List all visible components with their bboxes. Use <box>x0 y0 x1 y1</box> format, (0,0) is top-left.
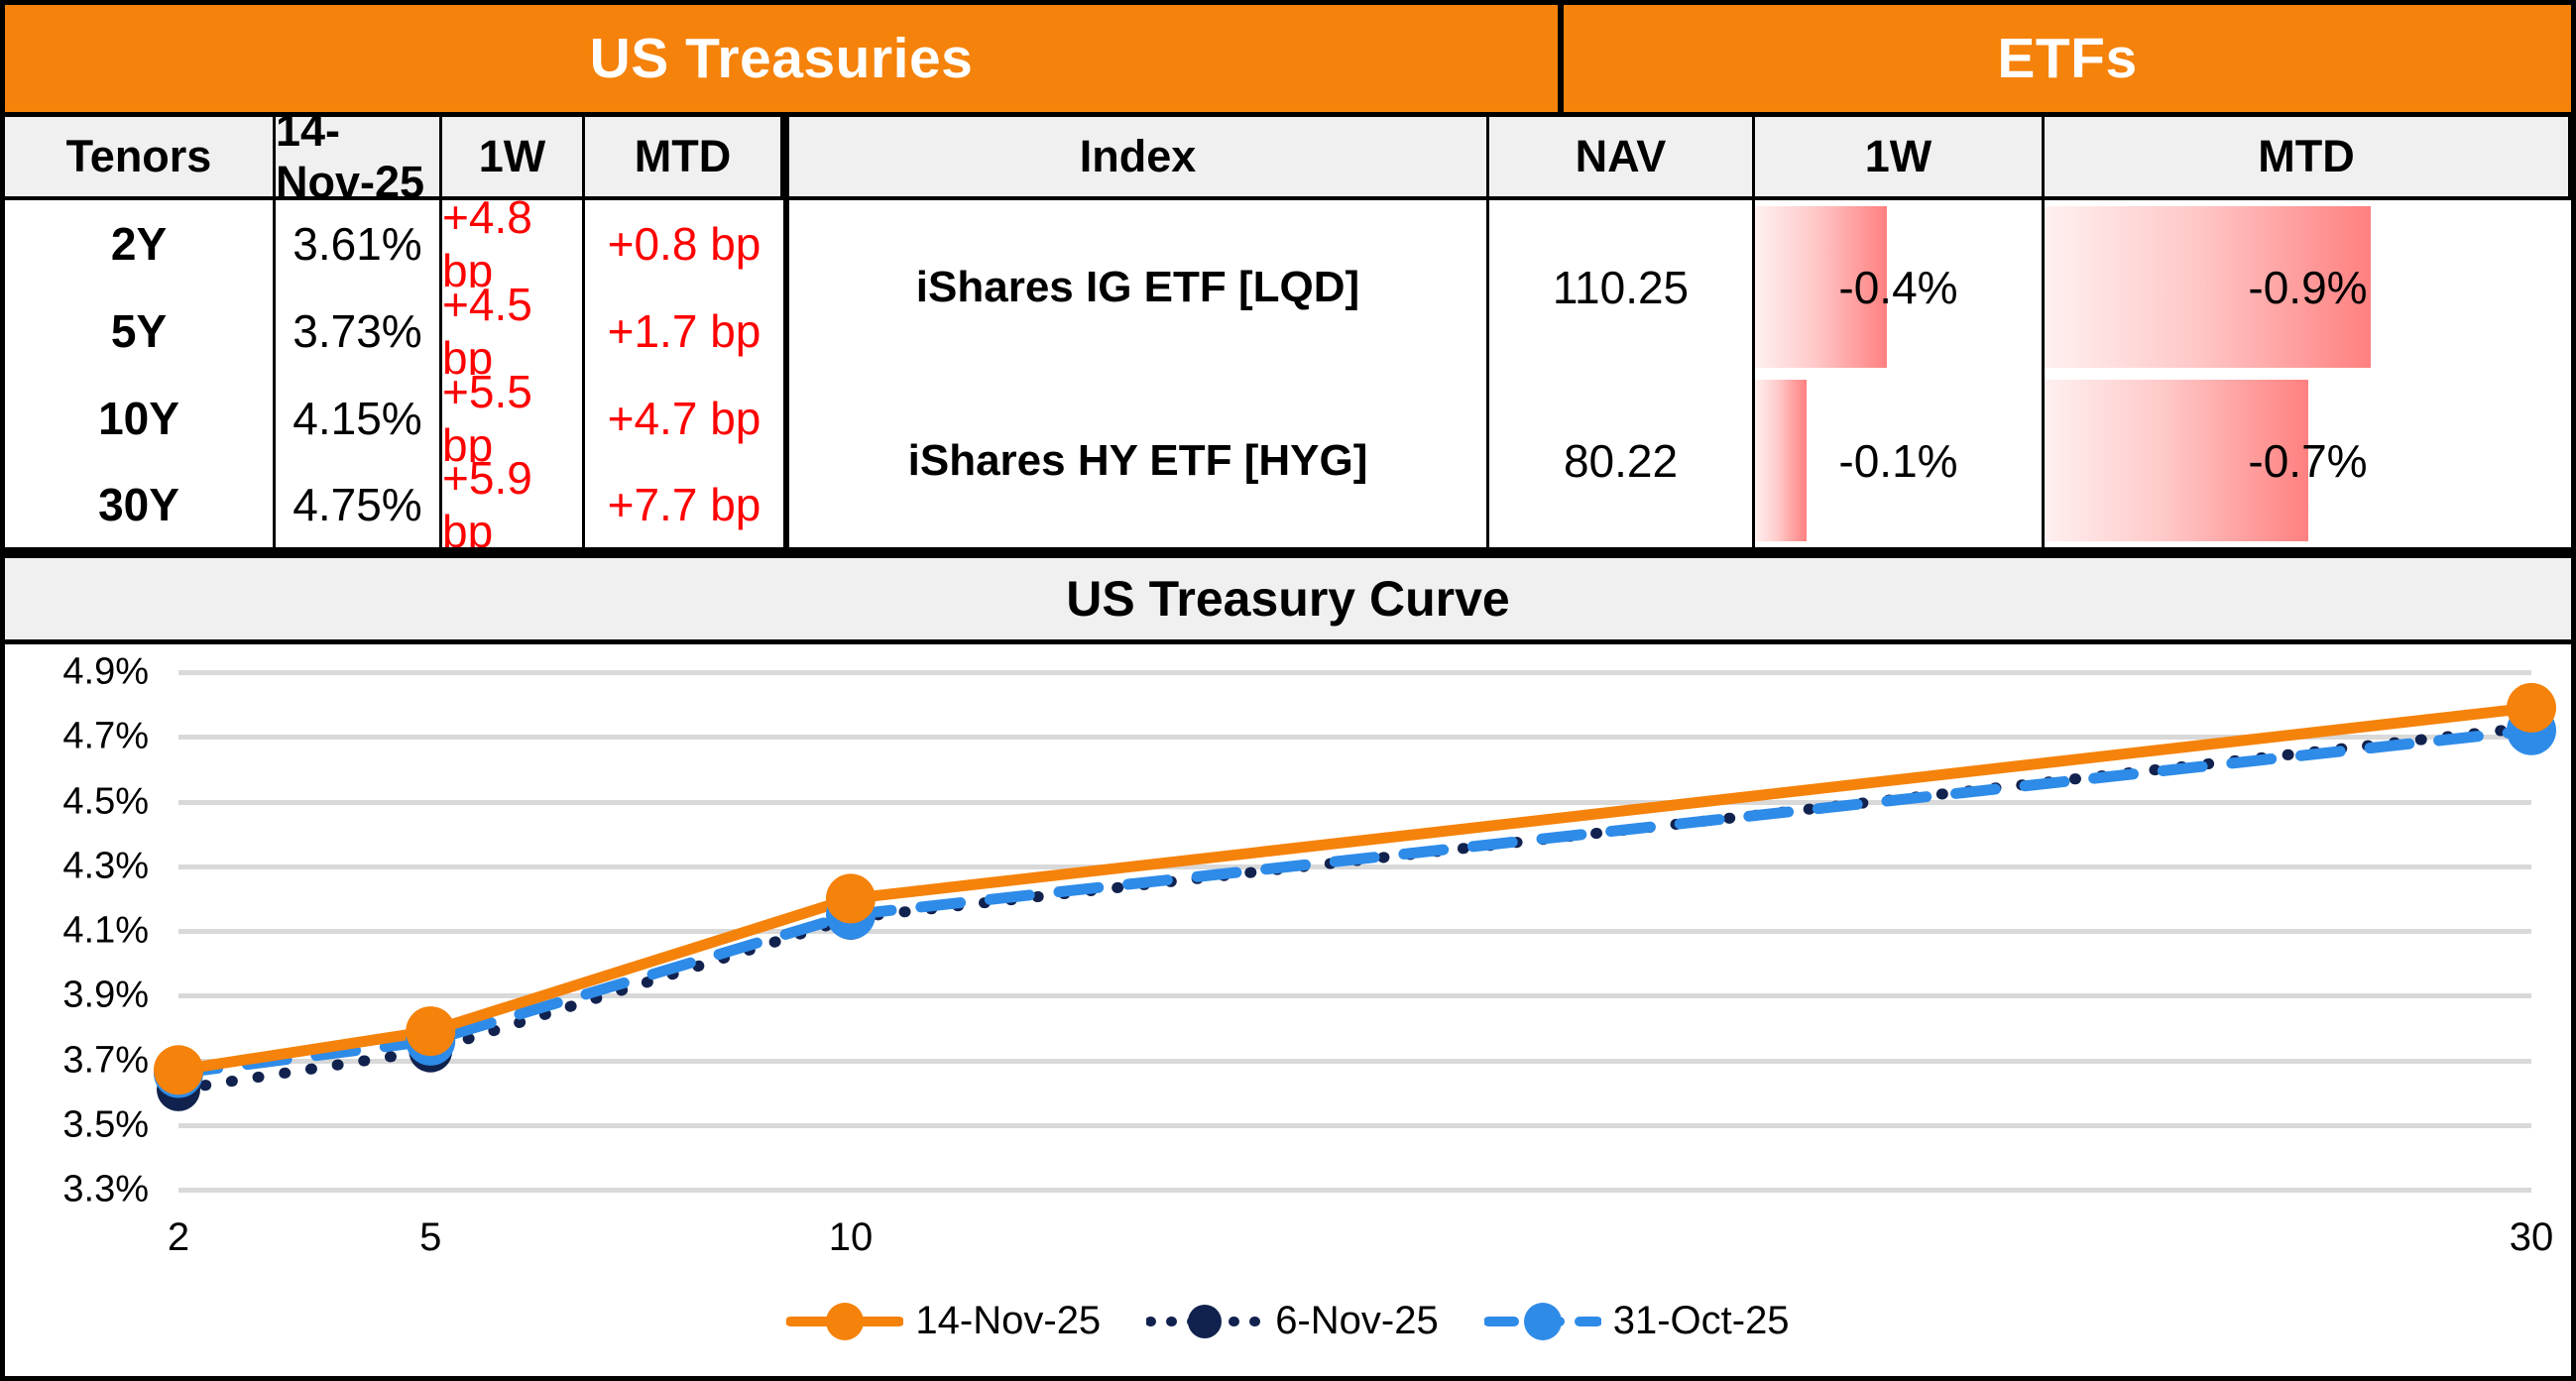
legend-label: 31-Oct-25 <box>1613 1299 1790 1343</box>
x-axis-tick-label: 10 <box>829 1215 874 1260</box>
header-tenors: Tenors <box>5 117 276 196</box>
cell-etf-1w: -0.1% <box>1755 374 2045 547</box>
series-marker <box>154 1045 203 1094</box>
chart-legend: 14-Nov-256-Nov-2531-Oct-25 <box>5 1299 2571 1343</box>
x-axis-tick-label: 30 <box>2510 1215 2554 1260</box>
cell-ust-1w: +4.5 bp <box>442 288 585 375</box>
cell-etf-mtd: -0.9% <box>2045 200 2571 374</box>
cell-tenor: 2Y <box>5 200 276 288</box>
cell-etf-name: iShares HY ETF [HYG] <box>789 374 1489 547</box>
legend-label: 6-Nov-25 <box>1275 1299 1439 1343</box>
header-nav: NAV <box>1489 117 1755 196</box>
legend-swatch <box>1146 1300 1263 1343</box>
data-bar <box>1755 380 1807 541</box>
cell-ust-mtd: +4.7 bp <box>585 375 783 462</box>
header-date: 14-Nov-25 <box>276 117 442 196</box>
header-etf-mtd: MTD <box>2045 117 2571 196</box>
series-line <box>178 731 2531 1074</box>
treasuries-banner: US Treasuries <box>5 5 1564 112</box>
cell-etf-1w-value: -0.4% <box>1838 261 1957 314</box>
etfs-banner: ETFs <box>1564 5 2571 112</box>
header-etf-1w: 1W <box>1755 117 2045 196</box>
treasuries-rows: 2Y 3.61% +4.8 bp +0.8 bp 5Y 3.73% +4.5 b… <box>5 200 783 547</box>
etf-rows: iShares IG ETF [LQD] 110.25 -0.4% -0.9% … <box>789 200 2571 547</box>
cell-ust-mtd: +1.7 bp <box>585 288 783 375</box>
cell-ust-1w: +5.9 bp <box>442 462 585 547</box>
cell-etf-nav: 110.25 <box>1489 200 1755 374</box>
summary-tables: US Treasuries ETFs Tenors 14-Nov-25 1W M… <box>5 5 2571 1381</box>
x-axis-tick-label: 5 <box>419 1215 441 1260</box>
table-row: 2Y 3.61% +4.8 bp +0.8 bp <box>5 200 783 288</box>
cell-tenor: 10Y <box>5 375 276 462</box>
cell-etf-mtd-value: -0.7% <box>2248 434 2367 488</box>
cell-level: 3.73% <box>276 288 442 375</box>
cell-ust-1w: +5.5 bp <box>442 375 585 462</box>
header-ust-mtd: MTD <box>585 117 783 196</box>
legend-item: 6-Nov-25 <box>1146 1299 1439 1343</box>
cell-etf-1w: -0.4% <box>1755 200 2045 374</box>
header-ust-1w: 1W <box>442 117 585 196</box>
cell-ust-mtd: +0.8 bp <box>585 200 783 288</box>
treasury-curve-chart: 4.9%4.7%4.5%4.3%4.1%3.9%3.7%3.5%3.3% 251… <box>5 644 2571 1381</box>
x-axis-tick-label: 2 <box>168 1215 189 1260</box>
legend-item: 31-Oct-25 <box>1484 1299 1790 1343</box>
series-marker <box>826 873 876 923</box>
series-marker <box>2507 683 2556 733</box>
banner-row: US Treasuries ETFs <box>5 5 2571 117</box>
cell-level: 4.75% <box>276 462 442 547</box>
legend-swatch <box>786 1300 903 1343</box>
table-row: 30Y 4.75% +5.9 bp +7.7 bp <box>5 462 783 547</box>
cell-level: 4.15% <box>276 375 442 462</box>
table-row: 10Y 4.15% +5.5 bp +4.7 bp <box>5 375 783 462</box>
cell-ust-mtd: +7.7 bp <box>585 462 783 547</box>
cell-tenor: 5Y <box>5 288 276 375</box>
series-marker <box>406 1006 455 1056</box>
cell-etf-mtd-value: -0.9% <box>2248 261 2367 314</box>
data-body: 2Y 3.61% +4.8 bp +0.8 bp 5Y 3.73% +4.5 b… <box>5 200 2571 553</box>
treasury-etf-dashboard: US Treasuries ETFs Tenors 14-Nov-25 1W M… <box>0 0 2576 1381</box>
header-index: Index <box>789 117 1489 196</box>
chart-title: US Treasury Curve <box>5 553 2571 644</box>
chart-plot-area <box>5 644 2571 1381</box>
cell-etf-1w-value: -0.1% <box>1838 434 1957 488</box>
column-header-row: Tenors 14-Nov-25 1W MTD Index NAV 1W MTD <box>5 117 2571 200</box>
table-row: iShares IG ETF [LQD] 110.25 -0.4% -0.9% <box>789 200 2571 374</box>
cell-etf-name: iShares IG ETF [LQD] <box>789 200 1489 374</box>
series-line <box>178 727 2531 1089</box>
legend-item: 14-Nov-25 <box>786 1299 1101 1343</box>
cell-ust-1w: +4.8 bp <box>442 200 585 288</box>
legend-swatch <box>1484 1300 1601 1343</box>
cell-etf-nav: 80.22 <box>1489 374 1755 547</box>
cell-tenor: 30Y <box>5 462 276 547</box>
legend-label: 14-Nov-25 <box>915 1299 1101 1343</box>
table-row: 5Y 3.73% +4.5 bp +1.7 bp <box>5 288 783 375</box>
cell-etf-mtd: -0.7% <box>2045 374 2571 547</box>
table-row: iShares HY ETF [HYG] 80.22 -0.1% -0.7% <box>789 374 2571 547</box>
cell-level: 3.61% <box>276 200 442 288</box>
